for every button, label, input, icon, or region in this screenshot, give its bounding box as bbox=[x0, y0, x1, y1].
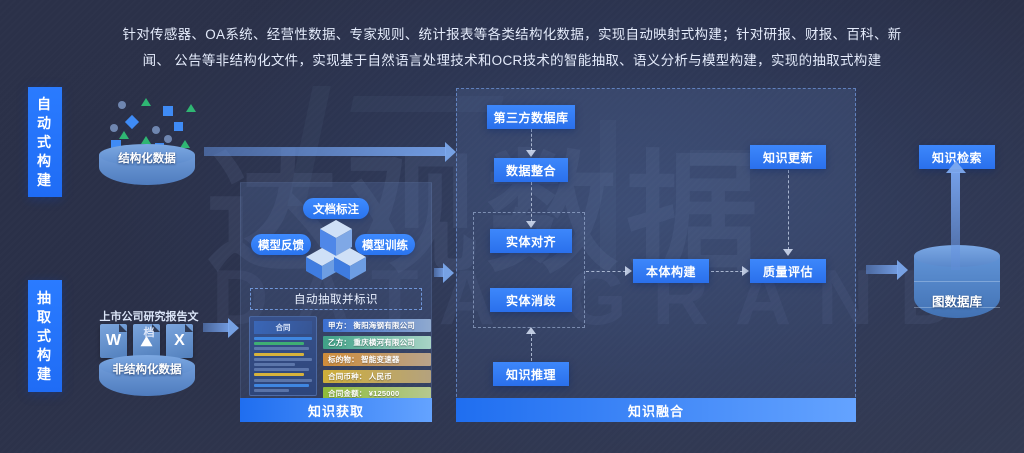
tab-extract-char-2: 式 bbox=[37, 327, 53, 346]
field-row-subject: 标的物： 智能变速器 bbox=[323, 353, 431, 366]
scatter-triangle-icon bbox=[119, 131, 129, 139]
contract-line bbox=[254, 379, 312, 382]
arrowhead-up bbox=[526, 327, 536, 334]
arrow-fusion-to-graphdb bbox=[866, 265, 898, 274]
box-knowledge-update[interactable]: 知识更新 bbox=[750, 145, 826, 169]
connector-update-to-quality bbox=[788, 170, 789, 250]
contract-line bbox=[254, 347, 309, 350]
scatter-circle-icon bbox=[110, 124, 118, 132]
box-quality-assessment[interactable]: 质量评估 bbox=[750, 259, 826, 283]
knowledge-acquisition-footer: 知识获取 bbox=[240, 398, 432, 422]
infographic-canvas: 达观数据 DATA GRAND 针对传感器、OA系统、经营性数据、专家规则、统计… bbox=[0, 0, 1024, 453]
tab-extract-char-3: 构 bbox=[37, 346, 53, 365]
contract-line bbox=[254, 342, 304, 345]
field-value: ¥125000 bbox=[369, 389, 400, 398]
field-key: 乙方： bbox=[328, 337, 351, 348]
sidebar-tab-auto-construction[interactable]: 自 动 式 构 建 bbox=[28, 87, 62, 197]
scatter-square-icon bbox=[174, 122, 183, 131]
scatter-circle-icon bbox=[118, 101, 126, 109]
arrowhead-right bbox=[742, 266, 749, 276]
scatter-diamond-icon bbox=[125, 115, 139, 129]
connector-integration-to-align bbox=[531, 182, 532, 222]
knowledge-fusion-footer: 知识融合 bbox=[456, 398, 856, 422]
contract-card-title: 合同 bbox=[254, 321, 312, 334]
documents-caption: 上市公司研究报告文档 bbox=[99, 308, 199, 340]
scatter-triangle-icon bbox=[141, 98, 151, 106]
auto-extract-label-box: 自动抽取并标识 bbox=[250, 288, 422, 310]
contract-line bbox=[254, 353, 304, 356]
pill-doc-annotation[interactable]: 文档标注 bbox=[303, 198, 369, 219]
tab-auto-char-3: 构 bbox=[37, 152, 53, 171]
field-key: 甲方： bbox=[328, 320, 351, 331]
box-entity-alignment[interactable]: 实体对齐 bbox=[490, 229, 572, 253]
tab-extract-char-0: 抽 bbox=[37, 289, 53, 308]
tab-auto-char-0: 自 bbox=[37, 95, 53, 114]
contract-line bbox=[254, 368, 309, 371]
arrow-docs-to-acquisition bbox=[203, 323, 229, 332]
scatter-circle-icon bbox=[164, 135, 172, 143]
graph-database-label: 图数据库 bbox=[914, 291, 1000, 310]
contract-line bbox=[254, 358, 312, 361]
contract-document-card: 合同 bbox=[249, 316, 317, 396]
connector-group-to-ontology bbox=[586, 271, 626, 272]
box-data-integration[interactable]: 数据整合 bbox=[494, 158, 568, 182]
sidebar-tab-extraction-construction[interactable]: 抽 取 式 构 建 bbox=[28, 280, 62, 392]
scatter-circle-icon bbox=[152, 126, 160, 134]
unstructured-data-label: 非结构化数据 bbox=[99, 361, 195, 377]
field-row-party-a: 甲方： 衡阳海钢有限公司 bbox=[323, 319, 431, 332]
scatter-triangle-icon bbox=[141, 136, 151, 144]
tab-extract-char-4: 建 bbox=[37, 365, 53, 384]
connector-thirdparty-to-integration bbox=[531, 129, 532, 151]
contract-line bbox=[254, 363, 295, 366]
scatter-square-icon bbox=[163, 106, 173, 116]
box-knowledge-reasoning[interactable]: 知识推理 bbox=[493, 362, 569, 386]
field-value: 智能变速器 bbox=[361, 354, 400, 365]
field-row-party-b: 乙方： 重庆横河有限公司 bbox=[323, 336, 431, 349]
arrowhead-down bbox=[526, 221, 536, 228]
arrow-graphdb-to-retrieval bbox=[951, 172, 960, 270]
box-entity-disambiguation[interactable]: 实体消歧 bbox=[490, 288, 572, 312]
field-value: 人民币 bbox=[369, 371, 392, 382]
unstructured-data-cylinder: 非结构化数据 bbox=[99, 355, 195, 401]
scatter-triangle-icon bbox=[186, 104, 196, 112]
field-key: 标的物： bbox=[328, 354, 359, 365]
structured-data-label: 结构化数据 bbox=[99, 150, 195, 166]
contract-line bbox=[254, 389, 289, 392]
arrowhead-down bbox=[783, 249, 793, 256]
field-value: 重庆横河有限公司 bbox=[353, 337, 415, 348]
contract-line bbox=[254, 384, 309, 387]
arrowhead-right bbox=[625, 266, 632, 276]
tab-auto-char-1: 动 bbox=[37, 114, 53, 133]
field-row-currency: 合同币种： 人民币 bbox=[323, 370, 431, 383]
arrow-structured-to-fusion bbox=[204, 147, 446, 156]
connector-reasoning-to-group bbox=[531, 333, 532, 361]
contract-line bbox=[254, 337, 312, 340]
field-value: 衡阳海钢有限公司 bbox=[353, 320, 415, 331]
box-third-party-db[interactable]: 第三方数据库 bbox=[487, 105, 575, 129]
cube-cluster-icon bbox=[306, 218, 366, 280]
contract-line bbox=[254, 373, 304, 376]
arrowhead-down bbox=[526, 150, 536, 157]
structured-data-cylinder: 结构化数据 bbox=[99, 144, 195, 190]
box-ontology-construction[interactable]: 本体构建 bbox=[633, 259, 709, 283]
cylinder-ring bbox=[914, 281, 1000, 282]
page-headline: 针对传感器、OA系统、经营性数据、专家规则、统计报表等各类结构化数据，实现自动映… bbox=[112, 22, 912, 74]
tab-auto-char-2: 式 bbox=[37, 133, 53, 152]
field-key: 合同币种： bbox=[328, 371, 367, 382]
tab-auto-char-4: 建 bbox=[37, 171, 53, 190]
connector-ontology-to-quality bbox=[711, 271, 743, 272]
arrow-acquisition-to-fusion bbox=[434, 268, 444, 277]
pill-model-feedback[interactable]: 模型反馈 bbox=[251, 234, 311, 255]
tab-extract-char-1: 取 bbox=[37, 308, 53, 327]
